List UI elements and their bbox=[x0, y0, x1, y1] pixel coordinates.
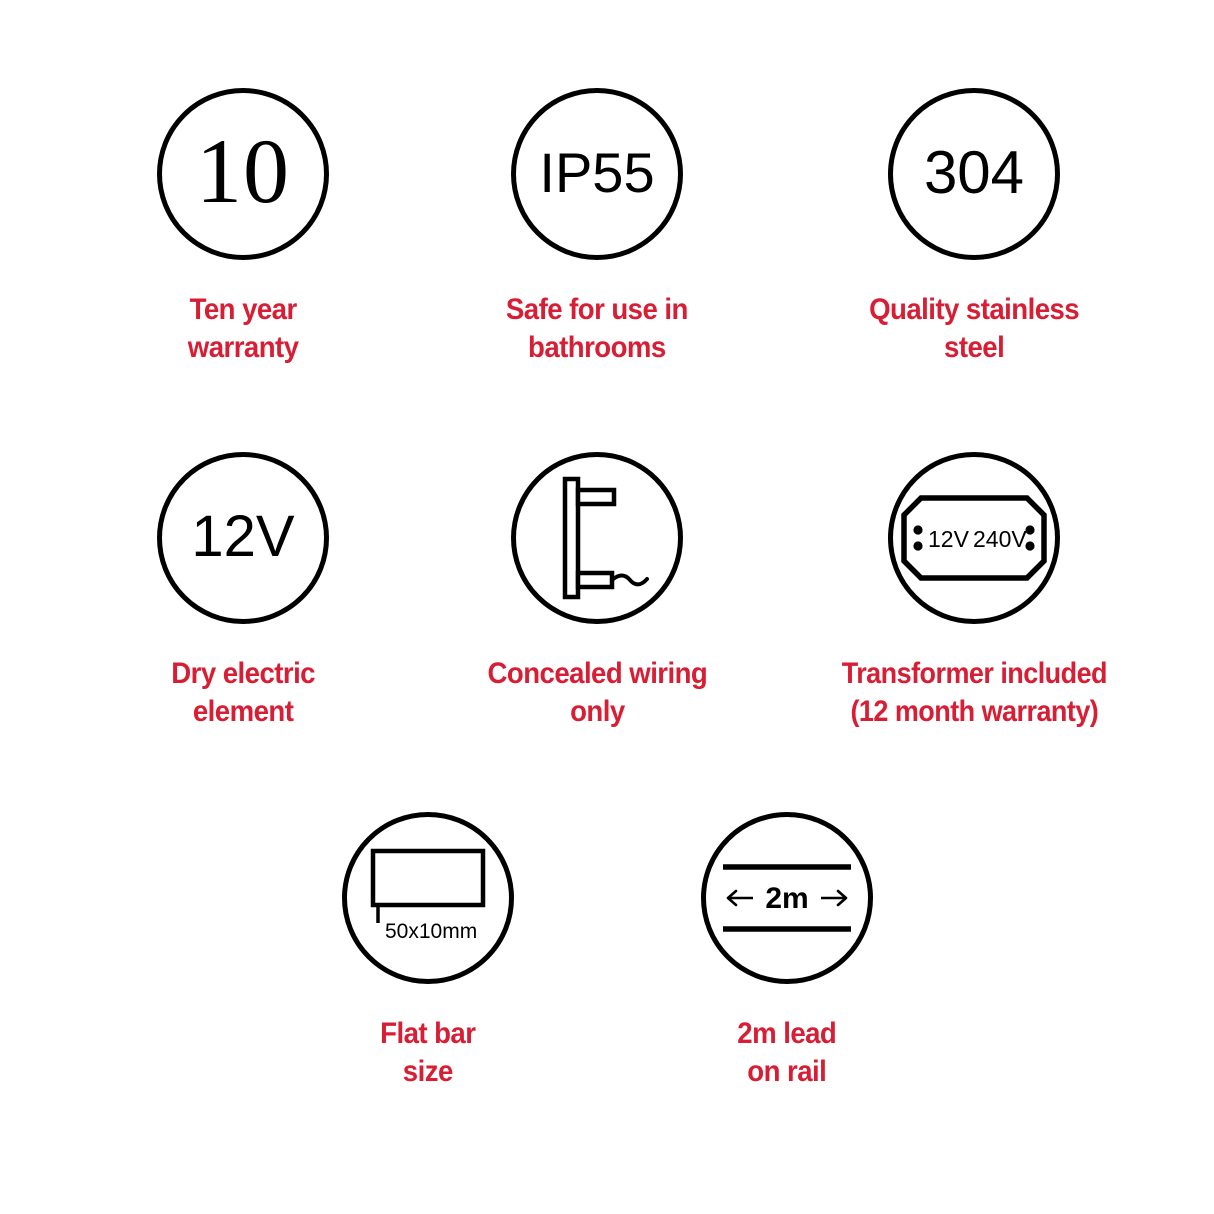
lead-length-label: 2m bbox=[765, 882, 808, 915]
feature-caption-ip55-bathroom-safe: Safe for use in bathrooms bbox=[506, 291, 688, 367]
feature-caption-concealed-wiring-only: Concealed wiring only bbox=[487, 655, 707, 731]
transformer-glyph: 12V 240V bbox=[901, 495, 1047, 581]
circle-ip55-icon-label: IP55 bbox=[539, 145, 654, 201]
transformer-input-label: 12V bbox=[928, 526, 970, 552]
flat-bar-glyph: 50x10mm bbox=[365, 843, 491, 953]
circle-304-icon: 304 bbox=[888, 88, 1060, 260]
feature-caption-flat-bar-size: Flat bar size bbox=[380, 1015, 475, 1091]
transformer-icon: 12V 240V bbox=[888, 452, 1060, 624]
feature-badge-board: 10 Ten year warranty IP55 Safe for use i… bbox=[0, 0, 1214, 1214]
circle-304-icon-label: 304 bbox=[924, 143, 1024, 203]
feature-stainless-steel-304: 304 Quality stainless steel bbox=[794, 88, 1154, 367]
feature-flat-bar-size: 50x10mm Flat bar size bbox=[248, 812, 608, 1091]
feature-ten-year-warranty: 10 Ten year warranty bbox=[63, 88, 423, 367]
concealed-wiring-glyph bbox=[537, 473, 657, 603]
circle-12v-icon: 12V bbox=[157, 452, 329, 624]
flat-bar-dimension-label: 50x10mm bbox=[385, 920, 477, 943]
feature-ip55-bathroom-safe: IP55 Safe for use in bathrooms bbox=[417, 88, 777, 367]
feature-caption-stainless-steel-304: Quality stainless steel bbox=[869, 291, 1079, 367]
feature-dry-electric-element: 12V Dry electric element bbox=[63, 452, 423, 731]
lead-length-icon: 2m bbox=[701, 812, 873, 984]
circle-10-icon-label: 10 bbox=[196, 125, 290, 217]
feature-caption-ten-year-warranty: Ten year warranty bbox=[188, 291, 299, 367]
concealed-wiring-icon bbox=[511, 452, 683, 624]
lead-length-glyph: 2m bbox=[720, 859, 854, 937]
feature-concealed-wiring-only: Concealed wiring only bbox=[417, 452, 777, 731]
flat-bar-icon: 50x10mm bbox=[342, 812, 514, 984]
feature-caption-transformer-included: Transformer included (12 month warranty) bbox=[841, 655, 1106, 731]
feature-2m-lead-on-rail: 2m 2m lead on rail bbox=[607, 812, 967, 1091]
feature-caption-dry-electric-element: Dry electric element bbox=[171, 655, 315, 731]
circle-10-icon: 10 bbox=[157, 88, 329, 260]
circle-ip55-icon: IP55 bbox=[511, 88, 683, 260]
transformer-output-label: 240V bbox=[973, 526, 1027, 552]
feature-transformer-included: 12V 240V Transformer included (12 month … bbox=[794, 452, 1154, 731]
circle-12v-icon-label: 12V bbox=[191, 508, 294, 566]
feature-caption-2m-lead-on-rail: 2m lead on rail bbox=[738, 1015, 837, 1091]
